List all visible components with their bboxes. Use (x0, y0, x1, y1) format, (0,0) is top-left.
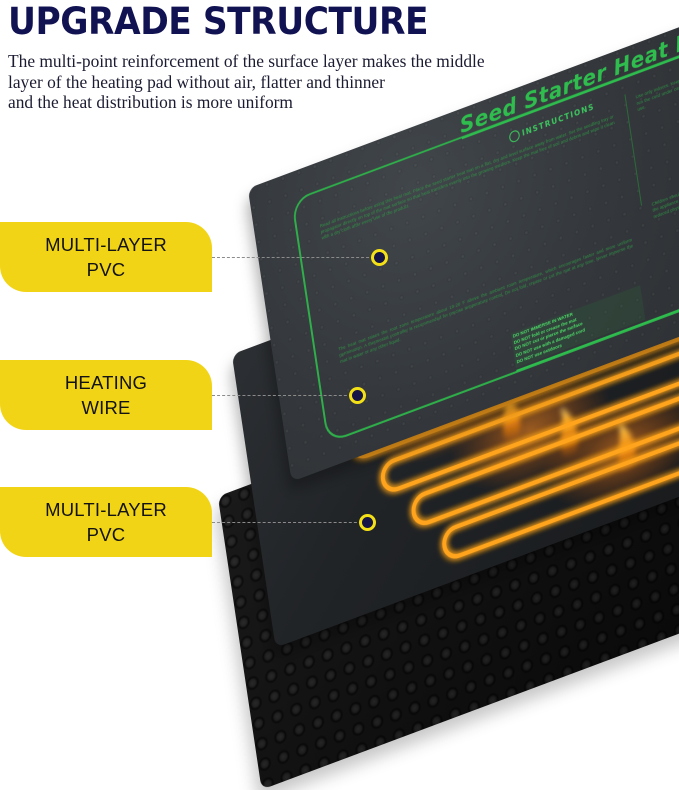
layer-stack-illustration: Seed Starter Heat Mat INSTRUCTIONS WARNI… (0, 0, 679, 688)
callout-multi-layer-pvc-top: MULTI-LAYER PVC (0, 222, 212, 292)
marker-top-pvc (371, 249, 388, 266)
marker-heating-wire (349, 387, 366, 404)
callout-1-line-2: PVC (87, 257, 126, 282)
callout-1-line-1: MULTI-LAYER (45, 232, 167, 257)
callout-3-line-1: MULTI-LAYER (45, 497, 167, 522)
callout-3-line-2: PVC (87, 522, 126, 547)
callout-multi-layer-pvc-bottom: MULTI-LAYER PVC (0, 487, 212, 557)
connector-line-top-pvc (212, 257, 379, 258)
callout-2-line-1: HEATING (65, 370, 147, 395)
marker-bottom-pvc (359, 514, 376, 531)
callout-heating-wire: HEATING WIRE (0, 360, 212, 430)
callout-2-line-2: WIRE (81, 395, 130, 420)
connector-line-heating-wire (212, 395, 357, 396)
connector-line-bottom-pvc (212, 522, 367, 523)
